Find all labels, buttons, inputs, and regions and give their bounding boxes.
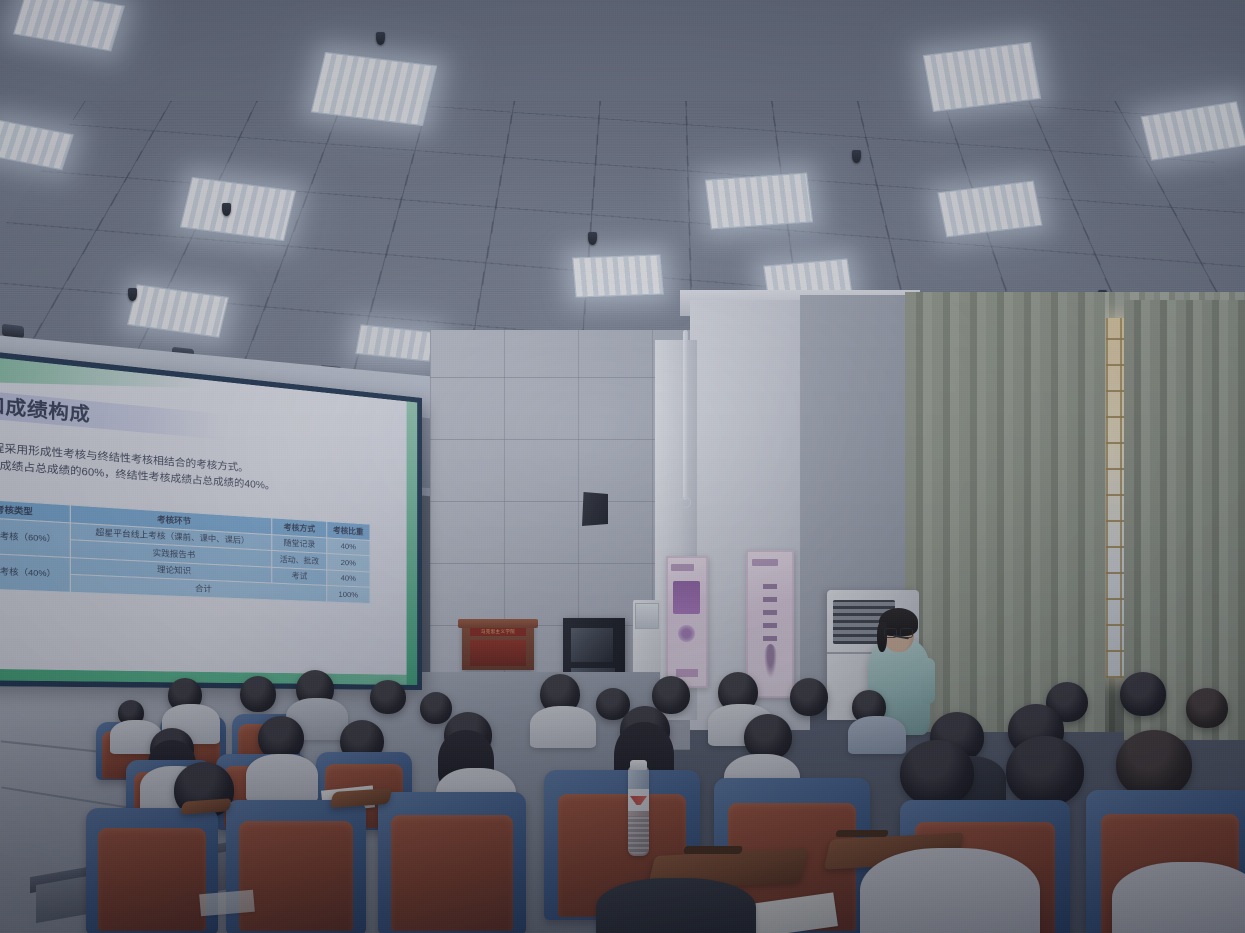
student-head: [1006, 736, 1084, 806]
poster-footer-bar: [676, 669, 698, 677]
foreground-student-shoulders: [596, 878, 756, 933]
auditorium-seat[interactable]: [226, 800, 366, 933]
podium-front-panel: [470, 640, 526, 666]
desk-hinge: [835, 830, 889, 837]
student-head: [652, 676, 690, 714]
foreground-student-shoulders: [1112, 862, 1245, 933]
student-head: [370, 680, 406, 714]
ceiling-panel-light: [572, 255, 663, 298]
poster-seal-graphic: [678, 625, 695, 643]
desk-hinge: [683, 846, 743, 854]
student-head: [1116, 730, 1192, 798]
student-shoulders: [246, 754, 318, 802]
poster-figure-graphic: [763, 644, 778, 681]
auditorium-seat[interactable]: [86, 808, 218, 933]
slide-paragraph: 本课程采用形成性考核与终结性考核相结合的考核方式。 形成性考核成绩占总成绩的60…: [0, 437, 405, 505]
podium-top-surface: [458, 619, 538, 628]
bottle-label: [628, 789, 649, 811]
rack-glass-door: [571, 628, 613, 662]
student-head: [240, 676, 276, 712]
wall-conduit-pipe: [683, 330, 688, 500]
bottle-ribbing: [628, 816, 649, 854]
sprinkler-head: [222, 203, 231, 216]
student-head: [1120, 672, 1166, 716]
cell-weight: 40%: [327, 569, 370, 587]
student-head: [900, 740, 974, 806]
student-head: [1186, 688, 1228, 728]
projection-screen: 核方式和成绩构成 本课程采用形成性考核与终结性考核相结合的考核方式。 形成性考核…: [0, 344, 422, 690]
poster-heading-bar: [752, 559, 778, 566]
student-head: [790, 678, 828, 716]
foreground-student-shoulders: [860, 848, 1040, 933]
wall-poster-right: [746, 550, 794, 698]
seat-wood-panel: [98, 828, 206, 931]
sprinkler-head: [588, 232, 597, 245]
auditorium-seat[interactable]: [378, 792, 526, 933]
ceiling-panel-light: [705, 173, 813, 230]
podium-sign-text: 马克思主义学院: [481, 629, 515, 635]
sprinkler-head: [128, 288, 137, 301]
wall-poster-left: [666, 556, 708, 688]
podium-name-plate: 马克思主义学院: [470, 628, 526, 636]
seat-wood-panel: [391, 815, 512, 931]
bottle-cap: [630, 760, 647, 770]
slide-title: 核方式和成绩构成: [0, 382, 229, 439]
dispenser-tank: [635, 603, 659, 629]
cell-total-weight: 100%: [327, 585, 370, 603]
water-dispenser[interactable]: [633, 600, 661, 678]
sprinkler-head: [376, 32, 385, 45]
poster-heading-bar: [671, 564, 694, 570]
window-curtain-left-panel: [905, 292, 1105, 732]
instructor-arm: [921, 658, 935, 704]
slide-green-accent-bottom: [0, 668, 417, 685]
lecture-hall-photo: 马克思主义学院 核方式和成绩构成 本课程采用形成性考核与终结性考核相结合的考核方…: [0, 0, 1245, 933]
assessment-table: 考核类型 考核环节 考核方式 考核比重 形成性考核（60%） 超星平台线上考核（…: [0, 497, 370, 603]
poster-vertical-text: [763, 581, 777, 641]
student-head: [420, 692, 452, 724]
cell-type-formative: 形成性考核（60%）: [0, 516, 70, 557]
conduit-ring: [680, 497, 691, 508]
presentation-slide: 核方式和成绩构成 本课程采用形成性考核与终结性考核相结合的考核方式。 形成性考核…: [0, 350, 417, 685]
notebook-page: [199, 890, 255, 917]
seat-wood-panel: [239, 821, 354, 931]
wall-speaker: [582, 492, 608, 526]
student-shoulders: [530, 706, 596, 748]
slide-green-accent-right: [406, 401, 417, 685]
cell-type-summative: 终结性考核（40%）: [0, 552, 70, 592]
student-shoulders: [848, 716, 906, 754]
poster-title-block: [673, 581, 700, 614]
sprinkler-head: [852, 150, 861, 163]
